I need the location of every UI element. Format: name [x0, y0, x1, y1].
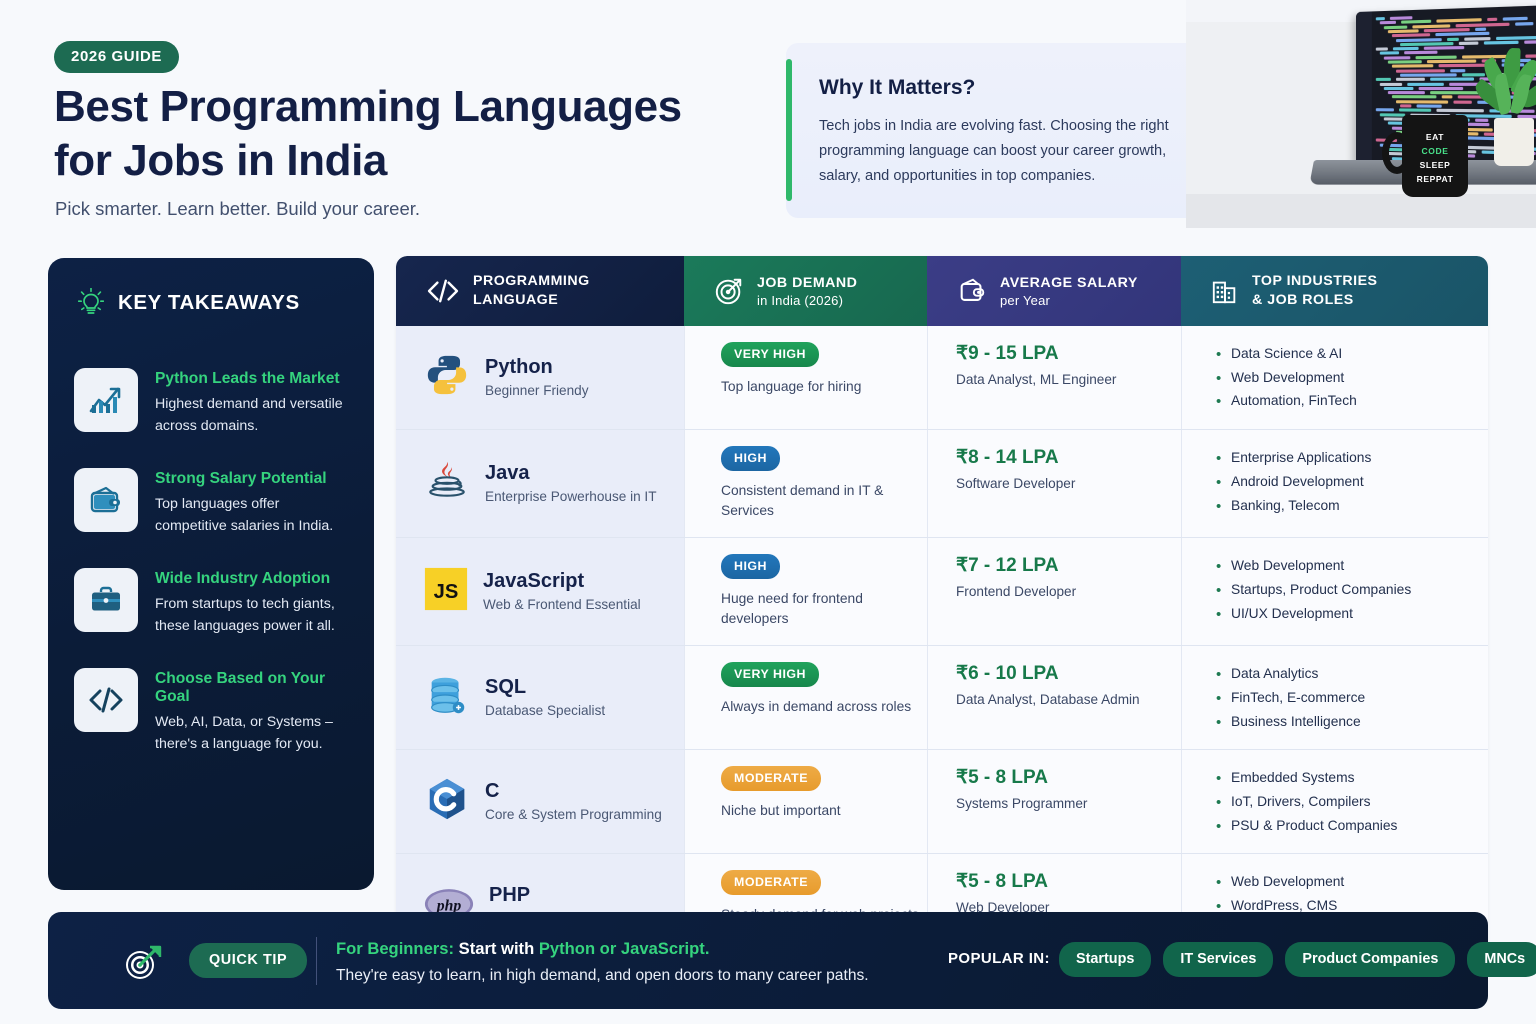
salary-role: Frontend Developer: [956, 584, 1181, 599]
industry-item: Business Intelligence: [1216, 710, 1488, 734]
takeaway-text: Choose Based on Your Goal Web, AI, Data,…: [155, 668, 354, 755]
demand-badge: HIGH: [721, 446, 780, 471]
divider: [316, 937, 317, 985]
demand-note: Always in demand across roles: [721, 697, 927, 717]
table-header-row: PROGRAMMING LANGUAGE JOB DEMAND in In: [396, 256, 1488, 326]
code-brackets-icon: [74, 668, 138, 732]
column-header-line2: LANGUAGE: [473, 291, 590, 310]
takeaway-body: Web, AI, Data, or Systems – there's a la…: [155, 712, 354, 755]
takeaway-text: Strong Salary Potential Top languages of…: [155, 468, 354, 537]
takeaway-item: Strong Salary Potential Top languages of…: [74, 468, 354, 537]
industry-item: Enterprise Applications: [1216, 446, 1488, 470]
page-title-line1: Best Programming Languages: [54, 80, 774, 134]
cell-demand: VERY HIGHAlways in demand across roles: [684, 646, 927, 749]
why-it-matters-title: Why It Matters?: [819, 76, 975, 100]
cell-demand: HIGHHuge need for frontend developers: [684, 538, 927, 645]
industry-item: Banking, Telecom: [1216, 494, 1488, 518]
language-name: Python: [485, 356, 589, 379]
page-title-line2: for Jobs in India: [54, 134, 774, 188]
salary-range: ₹7 - 12 LPA: [956, 554, 1181, 577]
code-gutter: [1356, 11, 1372, 164]
takeaway-item: Wide Industry Adoption From startups to …: [74, 568, 354, 637]
page-header: 2026 GUIDE Best Programming Languages fo…: [0, 0, 1536, 240]
table-row: CCore & System ProgrammingMODERATENiche …: [396, 750, 1488, 854]
photo-desk: [1186, 194, 1536, 228]
workspace-photo: EAT CODE SLEEP REPPAT: [1186, 0, 1536, 228]
language-tagline: Database Specialist: [485, 702, 605, 720]
cell-language: JS JavaScriptWeb & Frontend Essential: [396, 538, 684, 645]
demand-badge: MODERATE: [721, 766, 821, 791]
demand-badge: MODERATE: [721, 870, 821, 895]
salary-range: ₹9 - 15 LPA: [956, 342, 1181, 365]
industries-list: Data AnalyticsFinTech, E-commerceBusines…: [1216, 662, 1488, 733]
cell-industries: Embedded SystemsIoT, Drivers, CompilersP…: [1181, 750, 1488, 853]
key-takeaways-list: Python Leads the Market Highest demand a…: [74, 368, 354, 787]
lightbulb-icon: [78, 288, 104, 318]
chart-growth-icon: [74, 368, 138, 432]
table-wrapper: PROGRAMMING LANGUAGE JOB DEMAND in In: [396, 256, 1488, 958]
cell-demand: VERY HIGHTop language for hiring: [684, 326, 927, 429]
language-tagline: Beginner Friendy: [485, 382, 589, 400]
plant-leaves-icon: [1482, 48, 1536, 124]
language-name: C: [485, 780, 662, 803]
accent-bar: [786, 59, 792, 201]
popular-in-tags: StartupsIT ServicesProduct CompaniesMNCs: [1059, 942, 1536, 977]
salary-role: Systems Programmer: [956, 796, 1181, 811]
quick-tip-languages: Python or JavaScript.: [539, 939, 710, 958]
javascript-logo: JS: [424, 567, 468, 616]
page-subtitle: Pick smarter. Learn better. Build your c…: [55, 198, 420, 220]
industries-list: Web DevelopmentStartups, Product Compani…: [1216, 554, 1488, 625]
demand-note: Top language for hiring: [721, 377, 927, 397]
industries-list: Data Science & AIWeb DevelopmentAutomati…: [1216, 342, 1488, 413]
python-logo: [424, 352, 470, 403]
column-header-line2: & JOB ROLES: [1252, 291, 1378, 310]
mug-text-line4: REPPAT: [1402, 174, 1468, 184]
demand-note: Consistent demand in IT & Services: [721, 481, 927, 521]
industry-item: Android Development: [1216, 470, 1488, 494]
cell-industries: Enterprise ApplicationsAndroid Developme…: [1181, 430, 1488, 537]
takeaway-item: Python Leads the Market Highest demand a…: [74, 368, 354, 437]
c-language-logo: [424, 776, 470, 827]
language-text: PythonBeginner Friendy: [485, 356, 589, 400]
java-logo: [424, 458, 470, 509]
industry-item: IoT, Drivers, Compilers: [1216, 790, 1488, 814]
language-name: PHP: [489, 884, 647, 907]
column-header-line1: AVERAGE SALARY: [1000, 274, 1138, 293]
industry-item: Web Development: [1216, 554, 1488, 578]
building-icon: [1211, 276, 1239, 306]
target-icon: [123, 944, 163, 982]
industry-item: PSU & Product Companies: [1216, 814, 1488, 838]
mug-text-line1: EAT: [1402, 132, 1468, 142]
industry-item: Embedded Systems: [1216, 766, 1488, 790]
column-header-line1: JOB DEMAND: [757, 274, 857, 293]
takeaway-heading: Python Leads the Market: [155, 370, 354, 388]
javascript-logo: JS: [424, 567, 468, 611]
cell-salary: ₹9 - 15 LPAData Analyst, ML Engineer: [927, 326, 1181, 429]
target-icon: [714, 276, 744, 306]
industry-item: Automation, FinTech: [1216, 389, 1488, 413]
why-it-matters-body: Tech jobs in India are evolving fast. Ch…: [819, 114, 1194, 189]
quick-tip-badge: QUICK TIP: [189, 943, 307, 978]
quick-tip-mid: Start with: [454, 939, 539, 958]
popular-tag[interactable]: Startups: [1059, 942, 1151, 977]
cell-demand: MODERATENiche but important: [684, 750, 927, 853]
table-row: JavaEnterprise Powerhouse in ITHIGHConsi…: [396, 430, 1488, 538]
language-text: SQLDatabase Specialist: [485, 676, 605, 720]
language-text: JavaScriptWeb & Frontend Essential: [483, 570, 641, 614]
industry-item: UI/UX Development: [1216, 602, 1488, 626]
languages-table: PROGRAMMING LANGUAGE JOB DEMAND in In: [396, 256, 1488, 958]
industry-item: Web Development: [1216, 366, 1488, 390]
quick-tip-line1: For Beginners: Start with Python or Java…: [336, 939, 709, 959]
sql-database-logo: [424, 672, 470, 718]
python-logo: [424, 352, 470, 398]
language-text: JavaEnterprise Powerhouse in IT: [485, 462, 657, 506]
takeaway-heading: Wide Industry Adoption: [155, 570, 354, 588]
code-brackets-icon: [426, 278, 460, 304]
column-header-line1: PROGRAMMING: [473, 272, 590, 291]
column-header-industries: TOP INDUSTRIES & JOB ROLES: [1181, 256, 1488, 326]
cell-salary: ₹7 - 12 LPAFrontend Developer: [927, 538, 1181, 645]
language-name: SQL: [485, 676, 605, 699]
language-tagline: Web & Frontend Essential: [483, 596, 641, 614]
wallet-icon: [74, 468, 138, 532]
language-tagline: Core & System Programming: [485, 806, 662, 824]
language-name: Java: [485, 462, 657, 485]
table-row: PythonBeginner FriendyVERY HIGHTop langu…: [396, 326, 1488, 430]
takeaway-heading: Choose Based on Your Goal: [155, 670, 354, 706]
column-header-line1: TOP INDUSTRIES: [1252, 272, 1378, 291]
key-takeaways-panel: KEY TAKEAWAYS Python Leads the Market: [48, 258, 374, 890]
c-language-logo: [424, 776, 470, 822]
demand-badge: VERY HIGH: [721, 662, 819, 687]
popular-tag[interactable]: Product Companies: [1285, 942, 1455, 977]
briefcase-icon: [74, 568, 138, 632]
demand-badge: HIGH: [721, 554, 780, 579]
demand-badge: VERY HIGH: [721, 342, 819, 367]
cell-industries: Web DevelopmentStartups, Product Compani…: [1181, 538, 1488, 645]
popular-tag[interactable]: IT Services: [1163, 942, 1273, 977]
page-title: Best Programming Languages for Jobs in I…: [54, 80, 774, 187]
quick-tip-lead: For Beginners:: [336, 939, 454, 958]
table-row: SQLDatabase SpecialistVERY HIGHAlways in…: [396, 646, 1488, 750]
java-logo: [424, 458, 470, 504]
takeaway-body: Top languages offer competitive salaries…: [155, 494, 354, 537]
key-takeaways-title: KEY TAKEAWAYS: [118, 291, 300, 315]
salary-range: ₹5 - 8 LPA: [956, 766, 1181, 789]
column-header-line2: in India (2026): [757, 293, 857, 308]
takeaway-item: Choose Based on Your Goal Web, AI, Data,…: [74, 668, 354, 755]
cell-language: PythonBeginner Friendy: [396, 326, 684, 429]
key-takeaways-header: KEY TAKEAWAYS: [78, 288, 300, 318]
takeaway-text: Python Leads the Market Highest demand a…: [155, 368, 354, 437]
sql-database-logo: [424, 672, 470, 723]
coffee-mug-icon: EAT CODE SLEEP REPPAT: [1402, 115, 1468, 197]
cell-language: CCore & System Programming: [396, 750, 684, 853]
column-header-line2: per Year: [1000, 293, 1138, 308]
mug-text-line2: CODE: [1402, 146, 1468, 156]
industries-list: Enterprise ApplicationsAndroid Developme…: [1216, 446, 1488, 517]
popular-tag[interactable]: MNCs: [1467, 942, 1536, 977]
salary-range: ₹6 - 10 LPA: [956, 662, 1181, 685]
cell-salary: ₹6 - 10 LPAData Analyst, Database Admin: [927, 646, 1181, 749]
quick-tip-footer: QUICK TIP For Beginners: Start with Pyth…: [48, 912, 1488, 1009]
industry-item: Data Science & AI: [1216, 342, 1488, 366]
cell-industries: Data Science & AIWeb DevelopmentAutomati…: [1181, 326, 1488, 429]
demand-note: Niche but important: [721, 801, 927, 821]
column-header-salary: AVERAGE SALARY per Year: [927, 256, 1181, 326]
salary-range: ₹8 - 14 LPA: [956, 446, 1181, 469]
cell-language: SQLDatabase Specialist: [396, 646, 684, 749]
language-text: CCore & System Programming: [485, 780, 662, 824]
language-name: JavaScript: [483, 570, 641, 593]
plant-pot-icon: [1494, 118, 1534, 166]
cell-demand: HIGHConsistent demand in IT & Services: [684, 430, 927, 537]
infographic-page: 2026 GUIDE Best Programming Languages fo…: [0, 0, 1536, 1024]
salary-role: Software Developer: [956, 476, 1181, 491]
mug-text-line3: SLEEP: [1402, 160, 1468, 170]
demand-note: Huge need for frontend developers: [721, 589, 927, 629]
industries-list: Embedded SystemsIoT, Drivers, CompilersP…: [1216, 766, 1488, 837]
cell-salary: ₹5 - 8 LPASystems Programmer: [927, 750, 1181, 853]
industry-item: Web Development: [1216, 870, 1488, 894]
quick-tip-line2: They're easy to learn, in high demand, a…: [336, 967, 869, 985]
industry-item: FinTech, E-commerce: [1216, 686, 1488, 710]
cell-salary: ₹8 - 14 LPASoftware Developer: [927, 430, 1181, 537]
guide-year-badge: 2026 GUIDE: [54, 41, 179, 73]
table-body: PythonBeginner FriendyVERY HIGHTop langu…: [396, 326, 1488, 958]
cell-language: JavaEnterprise Powerhouse in IT: [396, 430, 684, 537]
takeaway-text: Wide Industry Adoption From startups to …: [155, 568, 354, 637]
takeaway-heading: Strong Salary Potential: [155, 470, 354, 488]
industry-item: Startups, Product Companies: [1216, 578, 1488, 602]
industry-item: Data Analytics: [1216, 662, 1488, 686]
svg-text:JS: JS: [434, 581, 459, 603]
column-header-language: PROGRAMMING LANGUAGE: [396, 256, 684, 326]
language-tagline: Enterprise Powerhouse in IT: [485, 488, 657, 506]
takeaway-body: Highest demand and versatile across doma…: [155, 394, 354, 437]
popular-in-label: POPULAR IN:: [948, 950, 1050, 967]
salary-role: Data Analyst, ML Engineer: [956, 372, 1181, 387]
cell-industries: Data AnalyticsFinTech, E-commerceBusines…: [1181, 646, 1488, 749]
column-header-demand: JOB DEMAND in India (2026): [684, 256, 927, 326]
salary-range: ₹5 - 8 LPA: [956, 870, 1181, 893]
table-row: JS JavaScriptWeb & Frontend EssentialHIG…: [396, 538, 1488, 646]
takeaway-body: From startups to tech giants, these lang…: [155, 594, 354, 637]
salary-role: Data Analyst, Database Admin: [956, 692, 1181, 707]
wallet-icon: [957, 276, 987, 306]
